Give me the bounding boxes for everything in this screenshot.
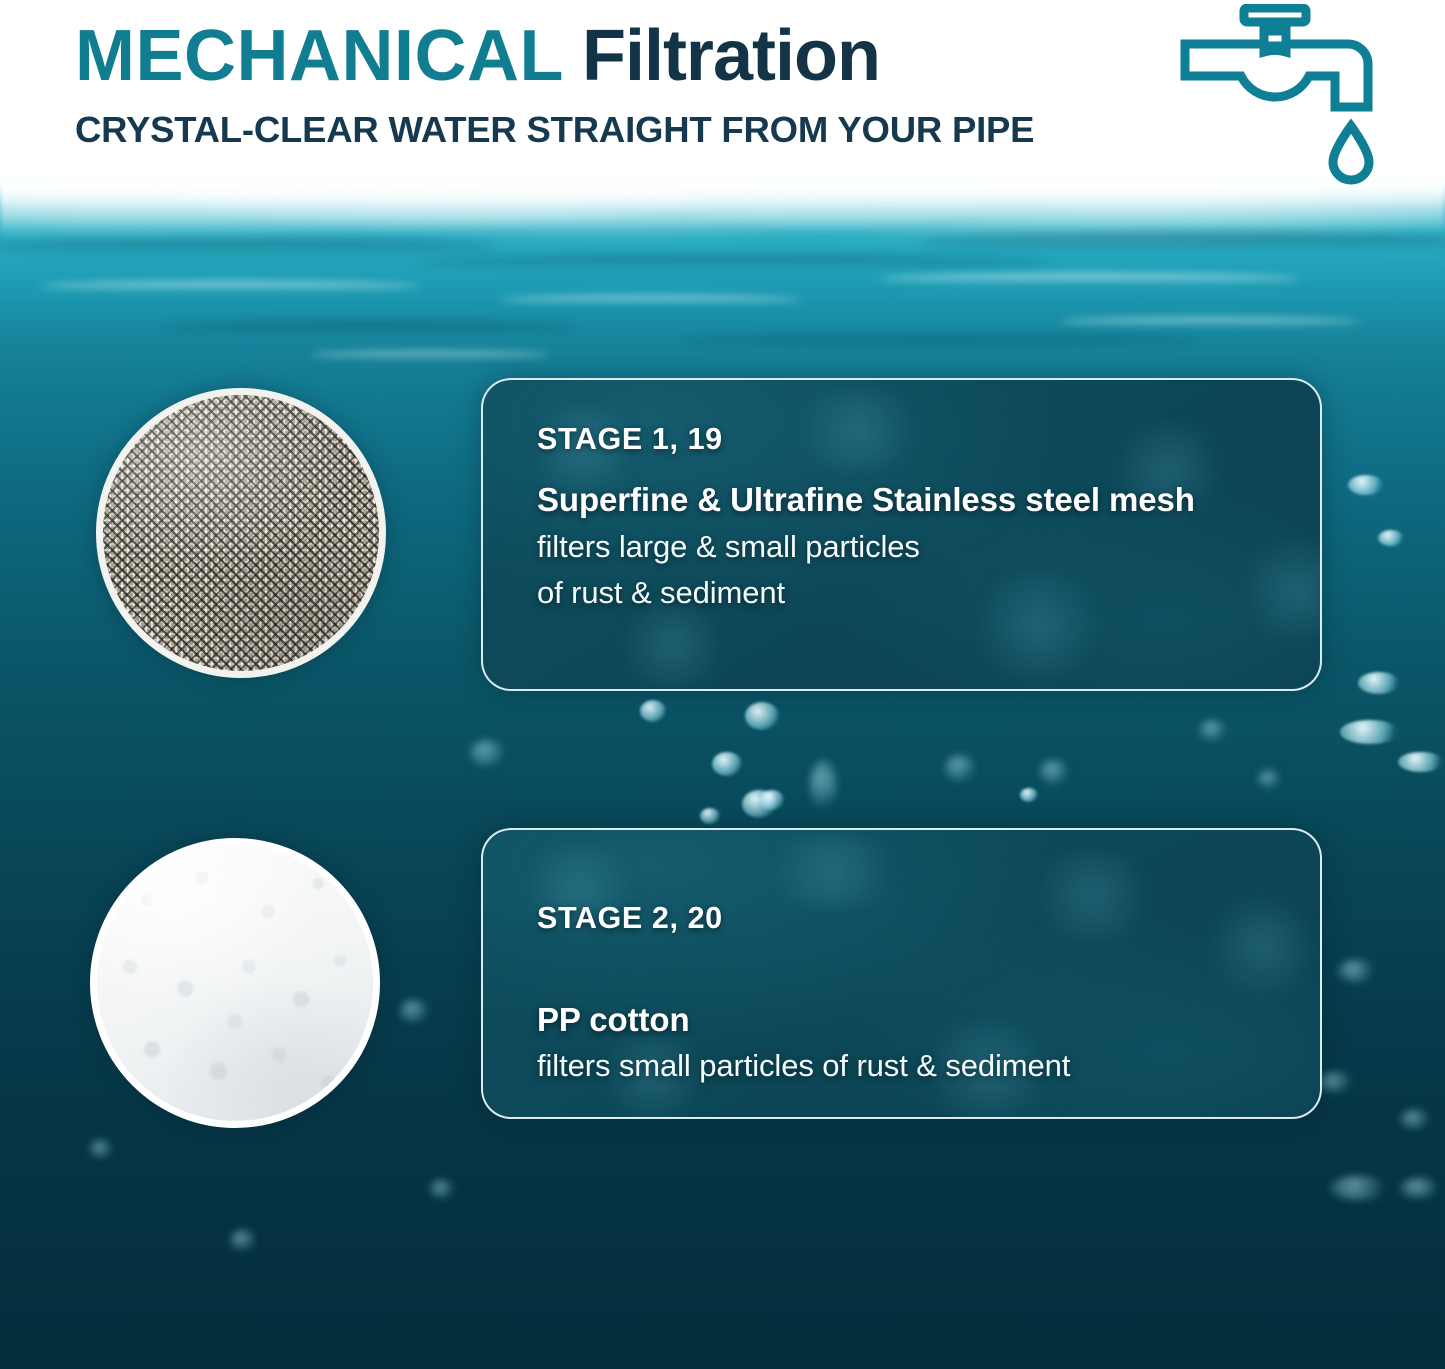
infographic-canvas: MECHANICALFiltration CRYSTAL-CLEAR WATER…	[0, 0, 1445, 1369]
cotton-sample-sheen	[97, 845, 373, 1121]
stage-2-card: STAGE 2, 20 PP cotton filters small part…	[481, 828, 1322, 1119]
page-title-secondary: Filtration	[582, 16, 880, 96]
header: MECHANICALFiltration CRYSTAL-CLEAR WATER…	[0, 0, 1445, 200]
stage-2-label: STAGE 2, 20	[537, 901, 1320, 936]
page-title: MECHANICALFiltration	[75, 14, 1165, 98]
title-block: MECHANICALFiltration CRYSTAL-CLEAR WATER…	[75, 14, 1165, 151]
mesh-sample-sheen	[103, 395, 379, 671]
pp-cotton-sample	[90, 838, 380, 1128]
stage-1-heading: Superfine & Ultrafine Stainless steel me…	[537, 478, 1197, 522]
stainless-steel-mesh-sample	[96, 388, 386, 678]
page-title-primary: MECHANICAL	[75, 16, 564, 96]
stage-2-content: STAGE 2, 20 PP cotton filters small part…	[483, 830, 1320, 1087]
stage-1-description-line-2: of rust & sediment	[537, 571, 1320, 614]
stage-2-description-line-1: filters small particles of rust & sedime…	[537, 1044, 1320, 1087]
stage-1-content: STAGE 1, 19 Superfine & Ultrafine Stainl…	[483, 380, 1320, 614]
stage-1-label: STAGE 1, 19	[537, 422, 1320, 457]
stage-1-card: STAGE 1, 19 Superfine & Ultrafine Stainl…	[481, 378, 1322, 691]
stage-1-description-line-1: filters large & small particles	[537, 525, 1320, 568]
page-subtitle: CRYSTAL-CLEAR WATER STRAIGHT FROM YOUR P…	[75, 109, 1165, 151]
faucet-icon	[1175, 4, 1435, 194]
stage-2-heading: PP cotton	[537, 998, 1320, 1042]
